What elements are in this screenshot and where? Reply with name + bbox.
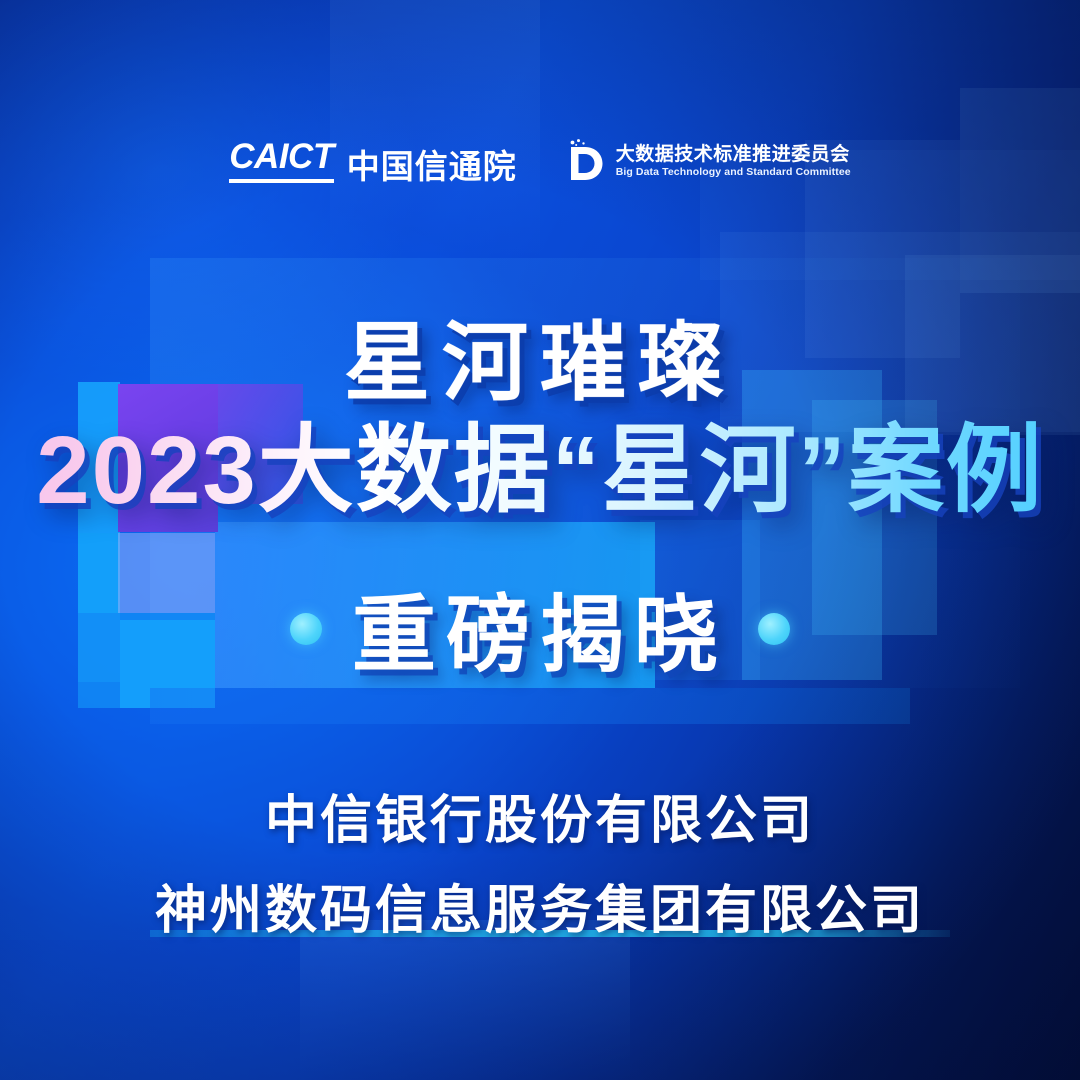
big-data-english-name: Big Data Technology and Standard Committ… <box>616 167 851 178</box>
big-data-d-icon <box>563 138 605 184</box>
title-line-2: 2023大数据“星河”案例 <box>0 392 1080 531</box>
logo-big-data-committee: 大数据技术标准推进委员会 Big Data Technology and Sta… <box>563 138 851 184</box>
caict-wordmark: CAICT <box>229 139 333 183</box>
bullet-dot-right-icon <box>758 613 790 645</box>
big-data-logo-text: 大数据技术标准推进委员会 Big Data Technology and Sta… <box>616 145 851 178</box>
company-name-2-text: 神州数码信息服务集团有限公司 <box>149 868 931 943</box>
big-data-chinese-name: 大数据技术标准推进委员会 <box>616 145 851 164</box>
header-logos: CAICT 中国信通院 大数据技术标准推进委员会 Big Data Techno… <box>0 138 1080 184</box>
caict-chinese-name: 中国信通院 <box>347 150 517 183</box>
company-name-2: 神州数码信息服务集团有限公司 <box>0 868 1080 943</box>
company-name-1-text: 中信银行股份有限公司 <box>259 778 821 853</box>
bullet-dot-left-icon <box>290 613 322 645</box>
logo-caict: CAICT 中国信通院 <box>229 139 516 183</box>
title-line-3-row: 重磅揭晓 <box>0 568 1080 689</box>
title-line-3: 重磅揭晓 <box>352 568 728 689</box>
company-name-1: 中信银行股份有限公司 <box>0 778 1080 853</box>
poster-root: CAICT 中国信通院 大数据技术标准推进委员会 Big Data Techno… <box>0 0 1080 1080</box>
